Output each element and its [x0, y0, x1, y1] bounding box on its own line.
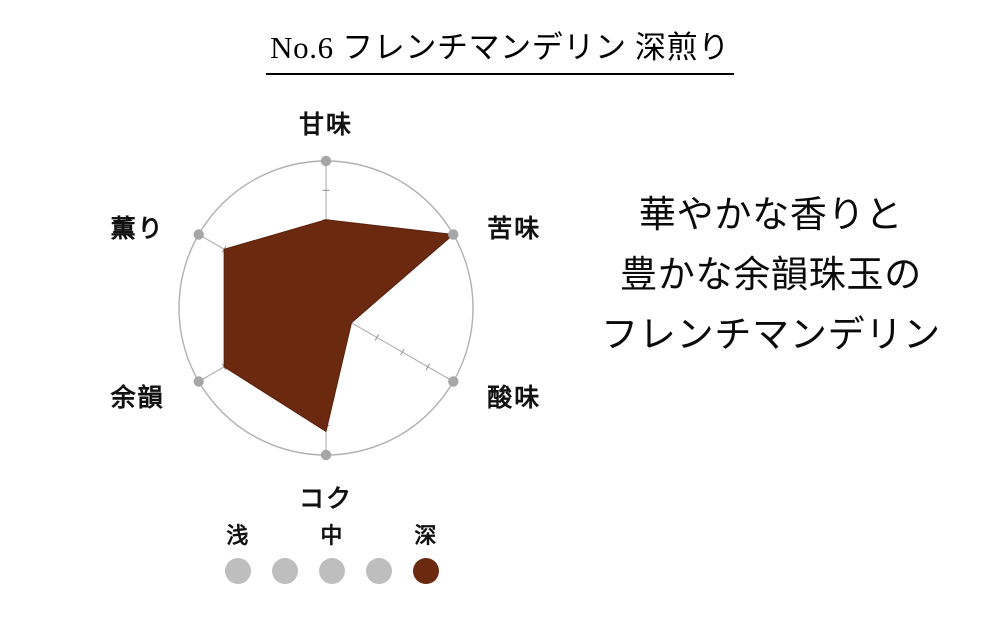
legend-dot-5-active [413, 558, 439, 584]
description-line-3: フレンチマンデリン [556, 306, 986, 366]
description-line-1: 華やかな香りと [556, 186, 986, 246]
radar-tick [375, 334, 379, 340]
legend-dot-1 [225, 558, 251, 584]
legend-label-dark: 深 [411, 518, 441, 550]
radar-vertex-dot [448, 376, 458, 386]
axis-label-bitterness: 苦味 [487, 209, 541, 245]
axis-label-aroma: 薫り [100, 209, 165, 245]
legend-dot-2 [272, 558, 298, 584]
radar-vertex-dot [321, 450, 331, 460]
radar-tick [426, 364, 430, 370]
axis-label-aftertaste: 余韻 [100, 378, 165, 414]
axis-label-acidity: 酸味 [487, 378, 541, 414]
axis-label-body: コク [96, 479, 556, 515]
axis-label-sweetness: 甘味 [96, 105, 556, 141]
radar-chart: 甘味 苦味 酸味 コク 余韻 薫り [100, 100, 560, 520]
legend-dot-3 [319, 558, 345, 584]
legend-label-light: 浅 [223, 518, 253, 550]
radar-data-polygon [224, 220, 453, 432]
radar-vertex-dot [193, 376, 203, 386]
roast-level-legend: 浅 中 深 [205, 518, 455, 598]
radar-vertex-dot [448, 229, 458, 239]
radar-chart-svg [100, 100, 560, 520]
page-title: No.6 フレンチマンデリン 深煎り [266, 30, 734, 75]
legend-dot-4 [366, 558, 392, 584]
radar-tick [401, 349, 405, 355]
radar-vertex-dot [193, 229, 203, 239]
title-block: No.6 フレンチマンデリン 深煎り [0, 30, 1000, 75]
legend-label-medium: 中 [317, 518, 347, 550]
description-line-2: 豊かな余韻珠玉の [556, 246, 986, 306]
product-description: 華やかな香りと 豊かな余韻珠玉の フレンチマンデリン [556, 186, 986, 366]
radar-vertex-dot [321, 156, 331, 166]
